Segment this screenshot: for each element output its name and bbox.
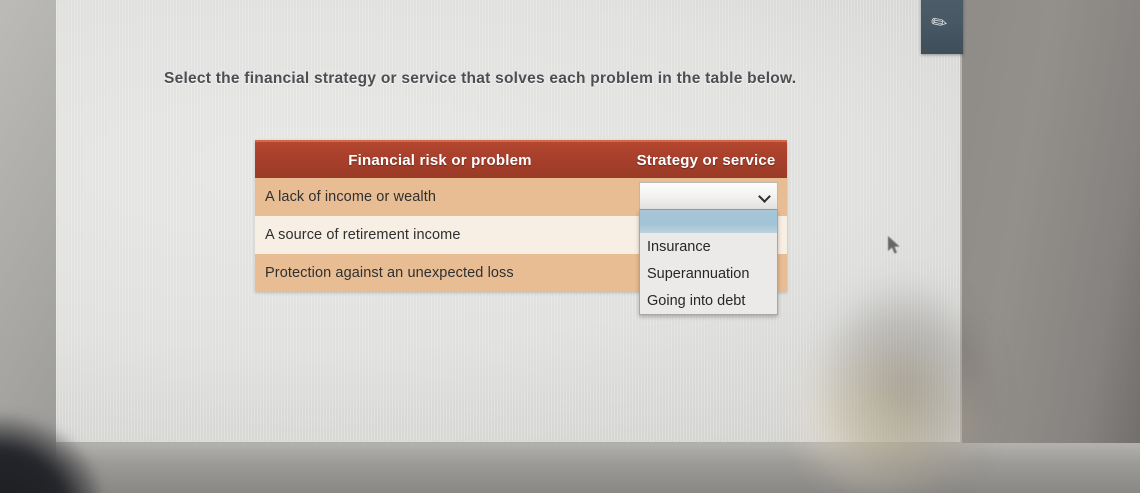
option-insurance[interactable]: Insurance <box>640 233 777 260</box>
pencil-icon[interactable]: ✎ <box>928 11 952 36</box>
cell-problem: A lack of income or wealth <box>255 178 625 216</box>
pen-icon[interactable]: ✒ <box>927 0 946 2</box>
wall-below-screen <box>0 443 1140 493</box>
cell-problem: A source of retirement income <box>255 216 625 254</box>
strategy-options-list[interactable]: Insurance Superannuation Going into debt <box>639 210 778 315</box>
chevron-down-icon[interactable] <box>759 191 770 202</box>
wall-left-of-screen <box>0 0 56 470</box>
photographed-screen-scene: ✒ ✎ Select the financial strategy or ser… <box>0 0 1140 493</box>
column-header-problem: Financial risk or problem <box>255 141 625 178</box>
strategy-dropdown[interactable]: Insurance Superannuation Going into debt <box>639 182 778 315</box>
pen-toolbar[interactable]: ✒ ✎ <box>921 0 963 54</box>
option-going-into-debt[interactable]: Going into debt <box>640 287 777 314</box>
wall-right-of-screen <box>962 0 1140 493</box>
strategy-select-box[interactable] <box>639 182 778 210</box>
column-header-strategy: Strategy or service <box>625 141 787 178</box>
option-superannuation[interactable]: Superannuation <box>640 260 777 287</box>
question-instruction: Select the financial strategy or service… <box>164 70 904 88</box>
option-blank[interactable] <box>640 210 777 233</box>
cell-problem: Protection against an unexpected loss <box>255 254 625 292</box>
table-header-row: Financial risk or problem Strategy or se… <box>255 141 787 178</box>
table-header: Financial risk or problem Strategy or se… <box>255 141 787 178</box>
